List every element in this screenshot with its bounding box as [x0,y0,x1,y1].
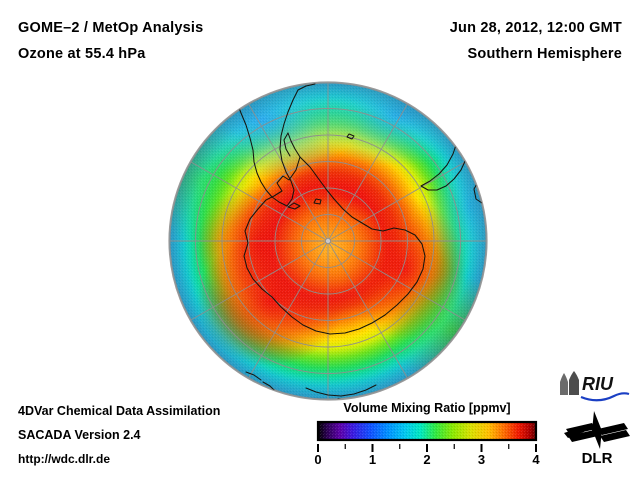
colorbar-tick-labels: 01234 [302,452,552,470]
colorbar-tick-label: 0 [314,452,321,467]
dlr-logo-text: DLR [582,450,613,467]
footer-url: http://wdc.dlr.de [18,452,110,466]
riu-swoosh-icon [581,393,629,400]
colorbar-tick-label: 2 [423,452,430,467]
ozone-field [142,62,514,400]
header-title-instrument: GOME–2 / MetOp Analysis [18,20,203,36]
colorbar-title: Volume Mixing Ratio [ppmv] [316,401,538,415]
colorbar-tick-label: 1 [369,452,376,467]
riu-logo-text: RIU [582,374,614,394]
header-title-variable: Ozone at 55.4 hPa [18,46,146,62]
colorbar-tick-label: 3 [478,452,485,467]
footer-version: SACADA Version 2.4 [18,428,141,442]
graticule [169,83,487,399]
riu-logo: RIU [556,371,632,403]
south-pole-marker [325,238,330,243]
coastlines [219,84,486,405]
dlr-mark-icon [564,411,630,449]
header-datetime: Jun 28, 2012, 12:00 GMT [450,20,622,36]
footer-method: 4DVar Chemical Data Assimilation [18,404,220,418]
globe-outline [169,82,487,400]
colorbar [302,419,552,443]
header-region: Southern Hemisphere [468,46,622,62]
colorbar-tick-label: 4 [532,452,539,467]
dlr-logo: DLR [562,409,632,467]
riu-tower-icon [560,371,579,395]
